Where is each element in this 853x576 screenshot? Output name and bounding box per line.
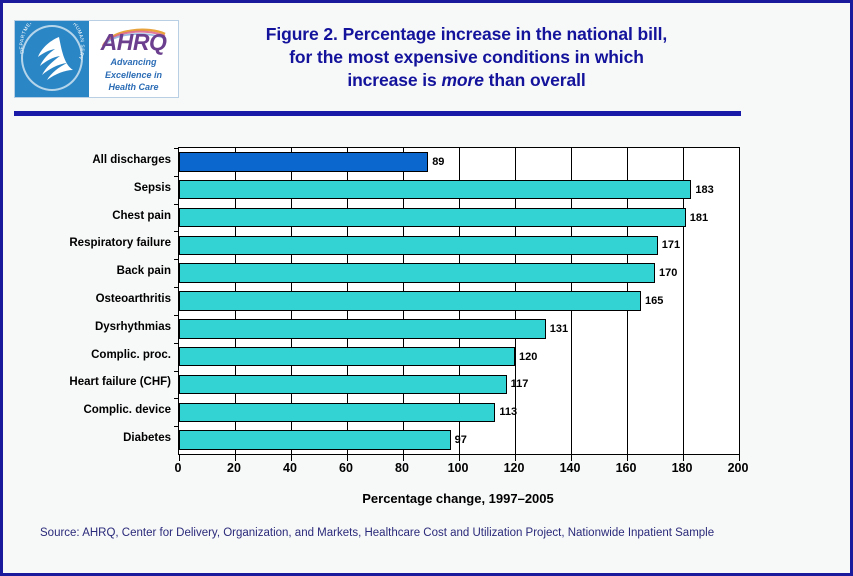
x-axis-tick: [235, 454, 236, 461]
y-axis-tick: [174, 204, 179, 205]
category-label: Dysrhythmias: [95, 321, 171, 333]
bar-value-label: 89: [432, 156, 444, 168]
x-axis-tick-label: 100: [448, 461, 469, 475]
x-axis-tick-label: 120: [504, 461, 525, 475]
bar-value-label: 170: [659, 267, 677, 279]
bar[interactable]: [179, 180, 691, 199]
y-axis-tick: [174, 315, 179, 316]
x-axis-tick-label: 160: [616, 461, 637, 475]
bar-row: 97: [179, 430, 739, 449]
ahrq-wordmark-block: AHRQ Advancing Excellence in Health Care: [89, 21, 178, 97]
x-axis-tick: [291, 454, 292, 461]
category-label: Respiratory failure: [69, 237, 171, 249]
x-axis-tick-label: 80: [395, 461, 409, 475]
bar-row: 183: [179, 180, 739, 199]
x-axis-tick: [739, 454, 740, 461]
figure-title: Figure 2. Percentage increase in the nat…: [189, 23, 744, 92]
figure-title-line-3: increase is more than overall: [189, 69, 744, 92]
bar[interactable]: [179, 152, 428, 171]
plot-area: 8918318117117016513112011711397: [178, 147, 740, 455]
y-axis-tick: [174, 231, 179, 232]
x-axis-tick: [179, 454, 180, 461]
category-label: Heart failure (CHF): [69, 376, 171, 388]
header-divider: [14, 111, 741, 116]
y-axis-tick: [174, 259, 179, 260]
bar-row: 181: [179, 208, 739, 227]
y-axis-tick: [174, 148, 179, 149]
bar-value-label: 97: [455, 434, 467, 446]
svg-text:DEPARTMENT OF HEALTH & HUMAN S: DEPARTMENT OF HEALTH & HUMAN SERVICES US…: [19, 23, 85, 61]
category-label: Complic. device: [83, 404, 171, 416]
y-axis-tick: [174, 287, 179, 288]
bar-row: 165: [179, 291, 739, 310]
bar-row: 171: [179, 236, 739, 255]
category-label: Chest pain: [112, 210, 171, 222]
x-axis-tick-label: 180: [672, 461, 693, 475]
bar[interactable]: [179, 263, 655, 282]
category-label: Osteoarthritis: [96, 293, 171, 305]
bar[interactable]: [179, 291, 641, 310]
x-axis-tick: [571, 454, 572, 461]
x-axis-tick-label: 60: [339, 461, 353, 475]
bar[interactable]: [179, 236, 658, 255]
bar[interactable]: [179, 430, 451, 449]
bar-value-label: 117: [511, 378, 529, 390]
bar[interactable]: [179, 347, 515, 366]
ahrq-tagline-line3: Health Care: [89, 82, 178, 93]
x-axis-tick: [459, 454, 460, 461]
figure-header: DEPARTMENT OF HEALTH & HUMAN SERVICES US…: [3, 3, 850, 108]
ahrq-hhs-logo: DEPARTMENT OF HEALTH & HUMAN SERVICES US…: [14, 20, 179, 98]
ahrq-tagline-line1: Advancing: [89, 57, 178, 68]
bar-value-label: 181: [690, 212, 708, 224]
bar-row: 113: [179, 403, 739, 422]
source-note: Source: AHRQ, Center for Delivery, Organ…: [40, 527, 714, 539]
bar-value-label: 120: [519, 351, 537, 363]
bar-value-label: 183: [695, 184, 713, 196]
figure-title-line-3-pre: increase is: [347, 70, 441, 90]
category-label: Diabetes: [123, 432, 171, 444]
y-axis-tick: [174, 343, 179, 344]
x-axis-tick-label: 140: [560, 461, 581, 475]
bar[interactable]: [179, 319, 546, 338]
bar-row: 89: [179, 152, 739, 171]
bar-value-label: 113: [499, 406, 517, 418]
figure-title-line-3-post: than overall: [484, 70, 586, 90]
bar[interactable]: [179, 403, 495, 422]
hhs-seal-text: DEPARTMENT OF HEALTH & HUMAN SERVICES US…: [19, 23, 85, 93]
bar-row: 131: [179, 319, 739, 338]
x-axis-ticks: [179, 454, 739, 461]
bar[interactable]: [179, 375, 507, 394]
x-axis-tick-labels: 020406080100120140160180200: [178, 461, 738, 479]
hhs-seal-icon: DEPARTMENT OF HEALTH & HUMAN SERVICES US…: [15, 21, 89, 97]
bar-row: 117: [179, 375, 739, 394]
x-axis-tick-label: 0: [175, 461, 182, 475]
bar-row: 120: [179, 347, 739, 366]
x-axis-tick-label: 200: [728, 461, 749, 475]
figure-title-line-2: for the most expensive conditions in whi…: [189, 46, 744, 69]
category-label: Complic. proc.: [91, 349, 171, 361]
x-axis-title: Percentage change, 1997–2005: [178, 491, 738, 506]
figure-title-line-1: Figure 2. Percentage increase in the nat…: [189, 23, 744, 46]
bar-value-label: 171: [662, 239, 680, 251]
ahrq-text: AHRQ: [89, 29, 178, 55]
x-axis-tick: [403, 454, 404, 461]
y-axis-tick: [174, 398, 179, 399]
bar-value-label: 131: [550, 323, 568, 335]
category-axis-labels: All dischargesSepsisChest painRespirator…: [23, 147, 171, 453]
bar[interactable]: [179, 208, 686, 227]
bar-chart: All dischargesSepsisChest painRespirator…: [3, 121, 850, 521]
x-axis-tick: [347, 454, 348, 461]
x-axis-tick-label: 40: [283, 461, 297, 475]
figure-title-emphasis: more: [441, 70, 483, 90]
bar-value-label: 165: [645, 295, 663, 307]
y-axis-tick: [174, 176, 179, 177]
x-axis-tick: [683, 454, 684, 461]
x-axis-tick: [515, 454, 516, 461]
category-label: Back pain: [117, 265, 171, 277]
category-label: All discharges: [92, 154, 171, 166]
figure-page: DEPARTMENT OF HEALTH & HUMAN SERVICES US…: [0, 0, 853, 576]
y-axis-tick: [174, 371, 179, 372]
x-axis-tick-label: 20: [227, 461, 241, 475]
x-axis-tick: [627, 454, 628, 461]
bar-row: 170: [179, 263, 739, 282]
category-label: Sepsis: [134, 182, 171, 194]
ahrq-tagline-line2: Excellence in: [89, 70, 178, 81]
y-axis-tick: [174, 426, 179, 427]
